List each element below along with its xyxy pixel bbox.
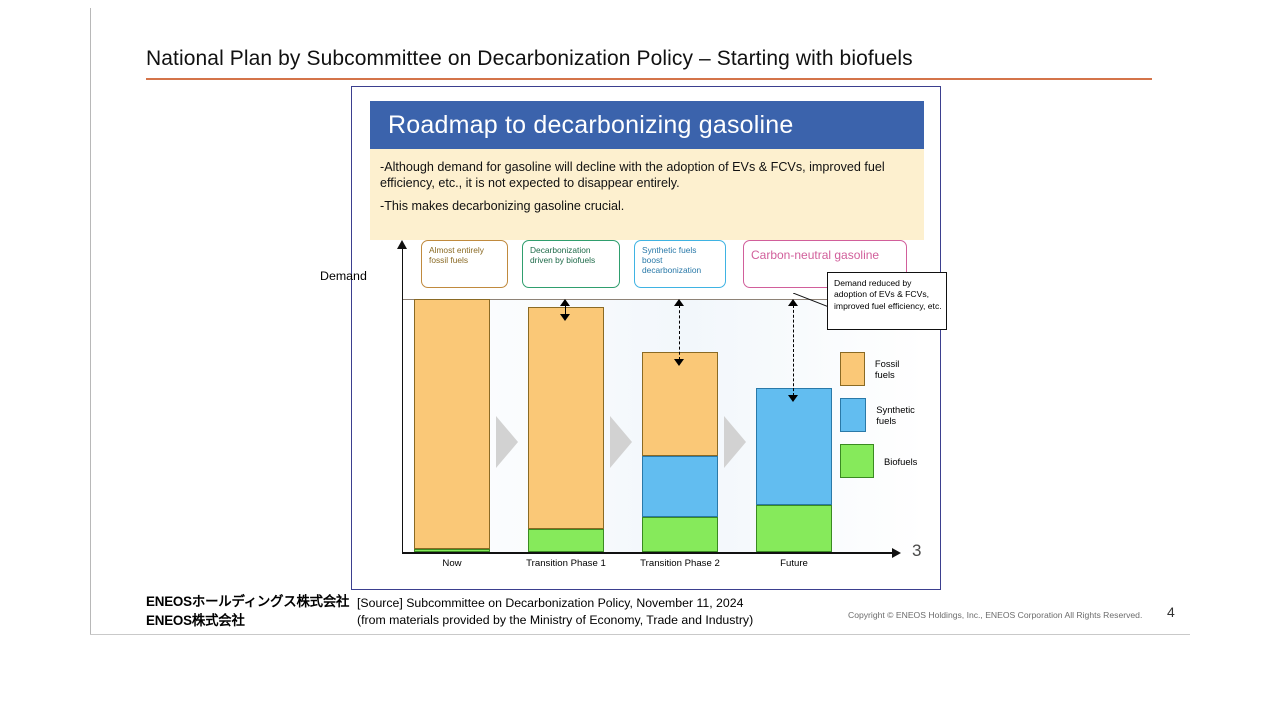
- legend-item-fossil-fuels: Fossil fuels: [840, 352, 908, 386]
- arrowhead-down-icon: [560, 314, 570, 321]
- y-axis-arrowhead-icon: [397, 240, 407, 249]
- bullet-item: -Although demand for gasoline will decli…: [380, 159, 910, 191]
- phase-box-transition-1: Decarbonization driven by biofuels: [522, 240, 620, 288]
- callout-leader-line: [793, 293, 829, 307]
- y-axis-label: Demand: [320, 269, 367, 283]
- x-tick-label-now: Now: [414, 558, 490, 569]
- legend-label: Fossil fuels: [875, 358, 909, 380]
- demand-reduction-callout: Demand reduced by adoption of EVs & FCVs…: [827, 272, 947, 330]
- transition-chevron-icon: [496, 416, 518, 468]
- logo-line: ENEOSホールディングス株式会社: [146, 592, 349, 611]
- arrowhead-down-icon: [788, 395, 798, 402]
- x-tick-label-transition-phase-2: Transition Phase 2: [627, 558, 733, 569]
- arrow-stem: [679, 305, 680, 360]
- x-tick-label-transition-phase-1: Transition Phase 1: [513, 558, 619, 569]
- bar-future: [756, 388, 832, 552]
- legend-label: Synthetic fuels: [876, 404, 922, 426]
- bar-transition-phase-1: [528, 307, 604, 552]
- phase-box-transition-2: Synthetic fuels boost decarbonization: [634, 240, 726, 288]
- left-margin-rule: [90, 8, 91, 634]
- embedded-slide: Roadmap to decarbonizing gasoline -Altho…: [351, 86, 941, 590]
- footer-divider-rule: [90, 634, 1190, 635]
- page-title: National Plan by Subcommittee on Decarbo…: [146, 47, 913, 71]
- bar-now: [414, 299, 490, 552]
- slide-banner-title: Roadmap to decarbonizing gasoline: [388, 111, 793, 140]
- legend-label: Biofuels: [884, 456, 917, 467]
- phase-box-label: Decarbonization driven by biofuels: [530, 245, 595, 265]
- copyright-notice: Copyright © ENEOS Holdings, Inc., ENEOS …: [848, 610, 1142, 620]
- arrowhead-down-icon: [674, 359, 684, 366]
- legend-item-synthetic-fuels: Synthetic fuels: [840, 398, 923, 432]
- source-line: (from materials provided by the Ministry…: [357, 612, 753, 629]
- x-axis-line: [402, 552, 894, 554]
- transition-chevron-icon: [724, 416, 746, 468]
- bar-segment-biofuels: [528, 529, 604, 552]
- demand-gap-arrow-future: [788, 299, 799, 402]
- y-axis-line: [402, 245, 403, 553]
- bar-segment-synthetic-fuels: [756, 388, 832, 505]
- legend-swatch-biofuels: [840, 444, 874, 478]
- slide-banner: Roadmap to decarbonizing gasoline: [370, 101, 924, 149]
- bar-segment-biofuels: [414, 549, 490, 552]
- demand-gap-arrow-phase-1: [560, 299, 571, 321]
- callout-text: Demand reduced by adoption of EVs & FCVs…: [834, 278, 942, 311]
- slide-page-number: 3: [912, 541, 921, 561]
- bar-segment-fossil-fuels: [642, 352, 718, 456]
- demand-gap-arrow-phase-2: [674, 299, 685, 366]
- phase-box-now: Almost entirely fossil fuels: [421, 240, 508, 288]
- legend-swatch-fossil-fuels: [840, 352, 865, 386]
- bar-segment-fossil-fuels: [528, 307, 604, 529]
- bar-segment-biofuels: [756, 505, 832, 552]
- phase-box-label: Synthetic fuels boost decarbonization: [642, 245, 701, 275]
- phase-box-label: Carbon-neutral gasoline: [751, 248, 879, 262]
- slide-page: National Plan by Subcommittee on Decarbo…: [0, 0, 1280, 720]
- bar-transition-phase-2: [642, 352, 718, 552]
- legend-item-biofuels: Biofuels: [840, 444, 917, 478]
- page-number: 4: [1167, 604, 1175, 620]
- source-citation: [Source] Subcommittee on Decarbonization…: [357, 595, 753, 629]
- transition-chevron-icon: [610, 416, 632, 468]
- eneos-logo: ENEOSホールディングス株式会社 ENEOS株式会社: [146, 592, 349, 630]
- logo-line: ENEOS株式会社: [146, 611, 349, 630]
- x-axis-arrowhead-icon: [892, 548, 901, 558]
- arrow-stem: [793, 305, 794, 396]
- x-tick-label-future: Future: [756, 558, 832, 569]
- slide-bullet-panel: -Although demand for gasoline will decli…: [370, 149, 924, 240]
- legend-swatch-synthetic-fuels: [840, 398, 866, 432]
- bar-segment-biofuels: [642, 517, 718, 552]
- source-line: [Source] Subcommittee on Decarbonization…: [357, 595, 753, 612]
- bar-segment-fossil-fuels: [414, 299, 490, 549]
- bullet-item: -This makes decarbonizing gasoline cruci…: [380, 198, 910, 214]
- bar-segment-synthetic-fuels: [642, 456, 718, 517]
- title-underline: [146, 78, 1152, 80]
- phase-box-label: Almost entirely fossil fuels: [429, 245, 484, 265]
- chart-area: Almost entirely fossil fuels Decarboniza…: [370, 240, 924, 574]
